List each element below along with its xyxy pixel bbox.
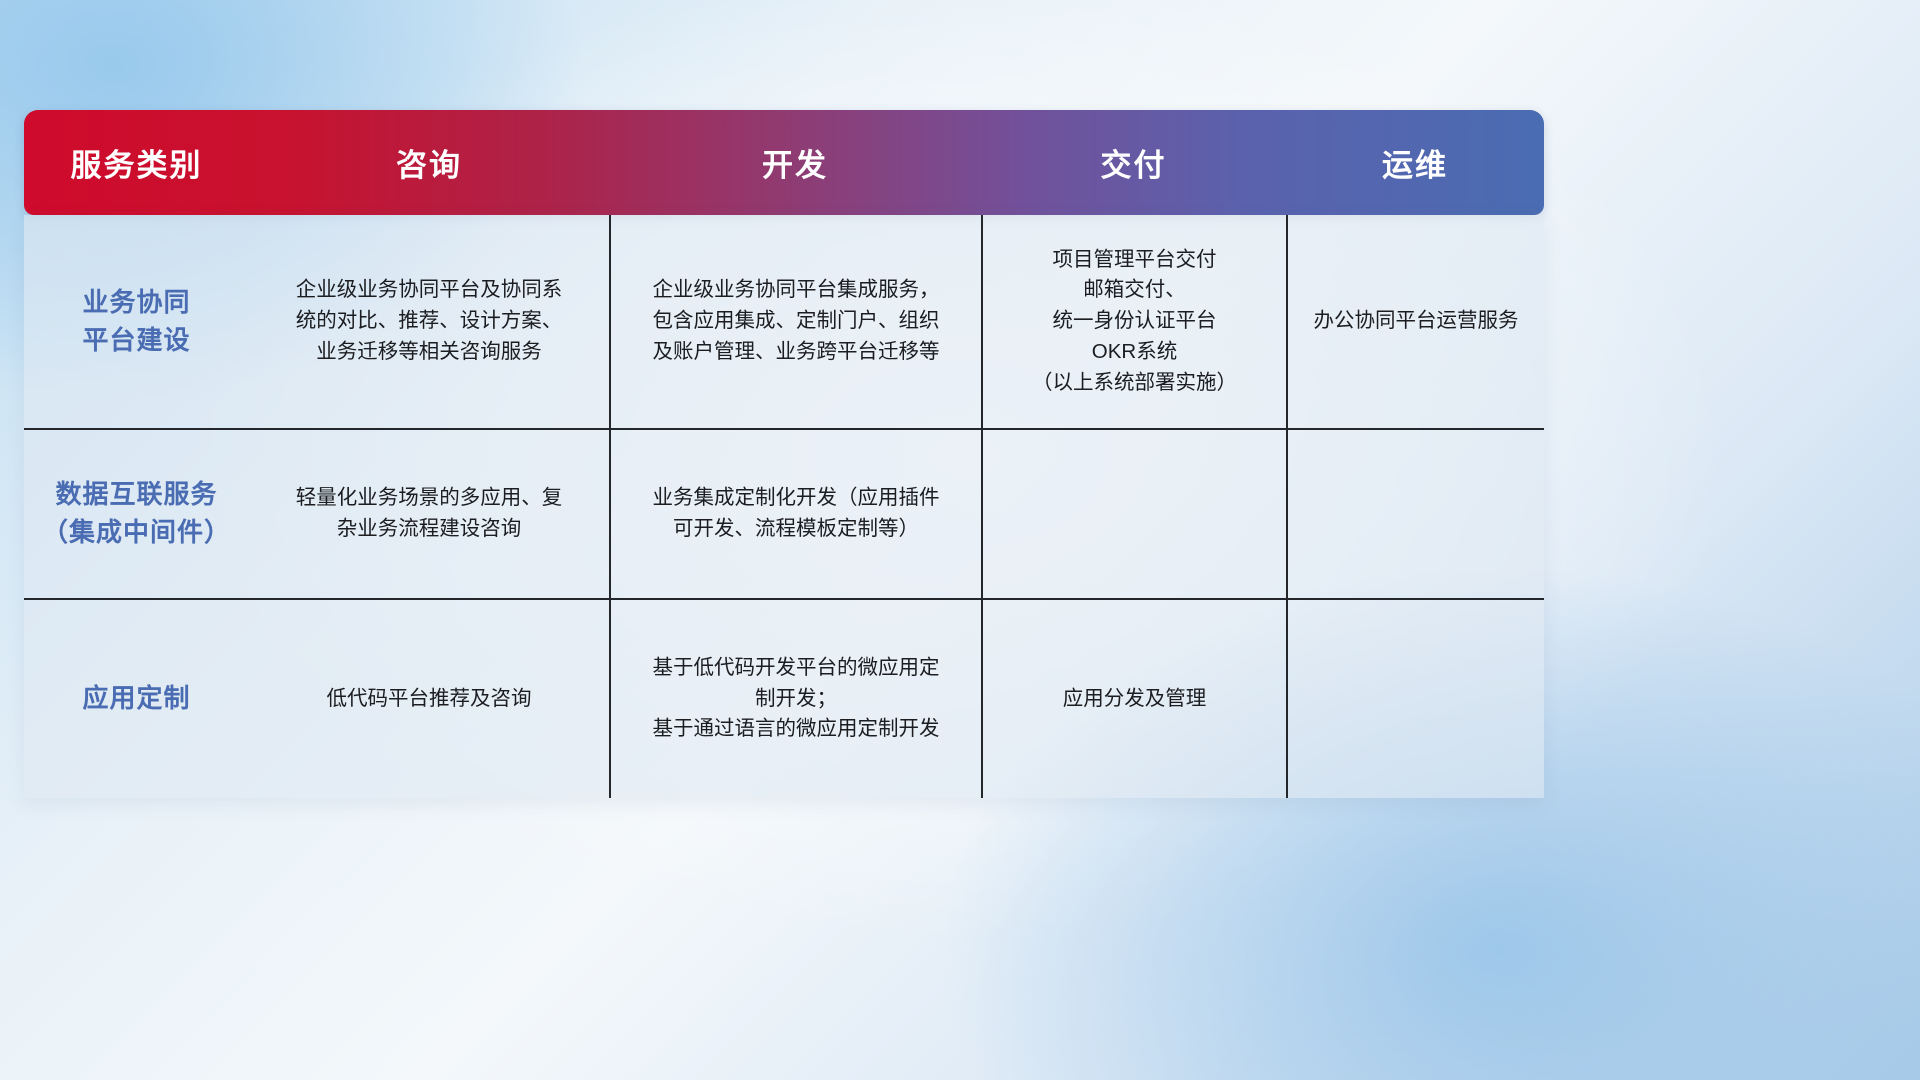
row-label-data-interconnect: 数据互联服务 （集成中间件） [24,430,249,598]
cell-r2-development: 业务集成定制化开发（应用插件 可开发、流程模板定制等） [609,430,981,598]
column-header-delivery: 交付 [981,110,1286,215]
row-label-business-collaboration: 业务协同 平台建设 [24,215,249,428]
column-header-consulting: 咨询 [249,110,609,215]
table-header-row: 服务类别 咨询 开发 交付 运维 [24,110,1544,215]
table-row: 数据互联服务 （集成中间件） 轻量化业务场景的多应用、复 杂业务流程建设咨询 业… [24,428,1544,598]
cell-r3-delivery: 应用分发及管理 [981,600,1286,798]
cell-r2-operations [1286,430,1544,598]
row-label-app-customization: 应用定制 [24,600,249,798]
service-category-table: 服务类别 咨询 开发 交付 运维 业务协同 平台建设 企业级业务协同平台及协同系… [24,110,1544,798]
cell-r3-consulting: 低代码平台推荐及咨询 [249,600,609,798]
table-body: 业务协同 平台建设 企业级业务协同平台及协同系 统的对比、推荐、设计方案、 业务… [24,215,1544,798]
cell-r1-development: 企业级业务协同平台集成服务， 包含应用集成、定制门户、组织 及账户管理、业务跨平… [609,215,981,428]
cell-r3-development: 基于低代码开发平台的微应用定 制开发； 基于通过语言的微应用定制开发 [609,600,981,798]
cell-r3-operations [1286,600,1544,798]
cell-r1-delivery: 项目管理平台交付 邮箱交付、 统一身份认证平台 OKR系统 （以上系统部署实施） [981,215,1286,428]
cell-r2-consulting: 轻量化业务场景的多应用、复 杂业务流程建设咨询 [249,430,609,598]
table-row: 应用定制 低代码平台推荐及咨询 基于低代码开发平台的微应用定 制开发； 基于通过… [24,598,1544,798]
column-header-category: 服务类别 [24,110,249,215]
column-header-development: 开发 [609,110,981,215]
cell-r2-delivery [981,430,1286,598]
column-header-operations: 运维 [1286,110,1544,215]
table-row: 业务协同 平台建设 企业级业务协同平台及协同系 统的对比、推荐、设计方案、 业务… [24,215,1544,428]
cell-r1-consulting: 企业级业务协同平台及协同系 统的对比、推荐、设计方案、 业务迁移等相关咨询服务 [249,215,609,428]
cell-r1-operations: 办公协同平台运营服务 [1286,215,1544,428]
slide-canvas: 服务类别 咨询 开发 交付 运维 业务协同 平台建设 企业级业务协同平台及协同系… [0,0,1920,1080]
